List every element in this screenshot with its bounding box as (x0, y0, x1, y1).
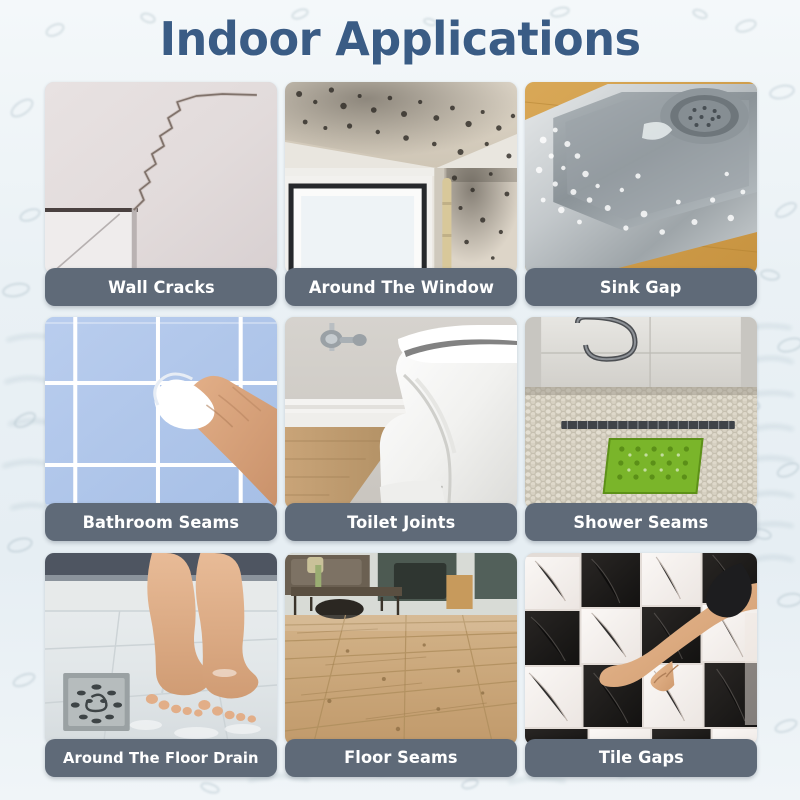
card-label-wall-cracks: Wall Cracks (45, 268, 277, 306)
card-label-floor-seams: Floor Seams (285, 739, 517, 777)
card-label-text: Around The Window (308, 278, 493, 297)
application-card-toilet-joints[interactable]: Toilet Joints (285, 317, 517, 546)
cracked-wall-photo (45, 82, 277, 274)
card-label-text: Tile Gaps (599, 748, 684, 767)
shower-floor-photo (525, 317, 757, 509)
sink-gap-photo (525, 82, 757, 274)
card-label-text: Shower Seams (574, 513, 709, 532)
card-label-text: Around The Floor Drain (63, 749, 259, 767)
window-mold-photo (285, 82, 517, 274)
card-label-text: Floor Seams (344, 748, 457, 767)
page-title-bar: Indoor Applications (0, 0, 800, 78)
toilet-base-photo (285, 317, 517, 509)
applications-grid: Wall Cracks (45, 82, 757, 782)
card-label-toilet-joints: Toilet Joints (285, 503, 517, 541)
card-label-text: Sink Gap (600, 278, 682, 297)
card-label-shower-seams: Shower Seams (525, 503, 757, 541)
card-label-text: Wall Cracks (108, 278, 215, 297)
application-card-around-the-window[interactable]: Around The Window (285, 82, 517, 311)
card-label-text: Bathroom Seams (83, 513, 240, 532)
tile-gaps-photo (525, 553, 757, 745)
card-label-sink-gap: Sink Gap (525, 268, 757, 306)
page-title: Indoor Applications (159, 12, 640, 66)
application-card-bathroom-seams[interactable]: Bathroom Seams (45, 317, 277, 546)
application-card-floor-seams[interactable]: Floor Seams (285, 553, 517, 782)
application-card-around-the-floor-drain[interactable]: Around The Floor Drain (45, 553, 277, 782)
card-label-bathroom-seams: Bathroom Seams (45, 503, 277, 541)
bathroom-tile-photo (45, 317, 277, 509)
card-label-around-the-window: Around The Window (285, 268, 517, 306)
card-label-tile-gaps: Tile Gaps (525, 739, 757, 777)
application-card-wall-cracks[interactable]: Wall Cracks (45, 82, 277, 311)
hardwood-floor-photo (285, 553, 517, 745)
application-card-sink-gap[interactable]: Sink Gap (525, 82, 757, 311)
application-card-tile-gaps[interactable]: Tile Gaps (525, 553, 757, 782)
application-card-shower-seams[interactable]: Shower Seams (525, 317, 757, 546)
floor-drain-photo (45, 553, 277, 745)
card-label-text: Toilet Joints (347, 513, 455, 532)
card-label-around-the-floor-drain: Around The Floor Drain (45, 739, 277, 777)
